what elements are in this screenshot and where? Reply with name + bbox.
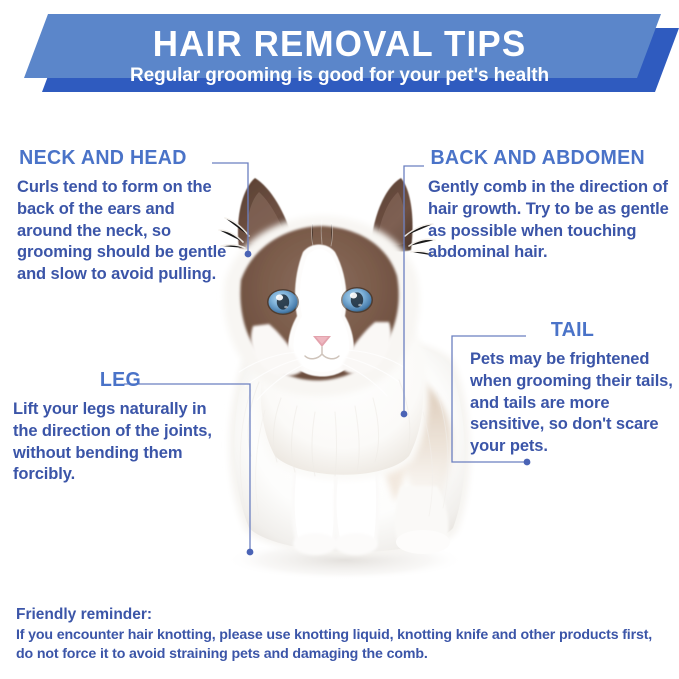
callout-body-tail: Pets may be frightened when grooming the… [470, 349, 675, 458]
callout-title-back: BACK AND ABDOMEN [430, 148, 673, 168]
banner-light-layer [0, 0, 679, 110]
cat-head [224, 216, 420, 400]
header-banner: HAIR REMOVAL TIPS Regular grooming is go… [0, 0, 679, 110]
footer-body: If you encounter hair knotting, please u… [16, 626, 666, 662]
cat-back-paw [395, 486, 450, 554]
callout-leg: LEG Lift your legs naturally in the dire… [13, 370, 228, 486]
callout-back-and-abdomen: BACK AND ABDOMEN Gently comb in the dire… [428, 148, 676, 264]
footer-note: Friendly reminder: If you encounter hair… [16, 605, 666, 663]
callout-body-back: Gently comb in the direction of hair gro… [428, 177, 676, 264]
callout-title-neck: NECK AND HEAD [19, 148, 230, 168]
infographic-poster: HAIR REMOVAL TIPS Regular grooming is go… [0, 0, 679, 679]
callout-tail: TAIL Pets may be frightened when groomin… [470, 320, 675, 458]
callout-title-tail: TAIL [472, 320, 673, 340]
callout-neck-and-head: NECK AND HEAD Curls tend to form on the … [17, 148, 232, 286]
leader-dot-tail [524, 459, 531, 466]
callout-title-leg: LEG [15, 370, 226, 390]
footer-title: Friendly reminder: [16, 605, 666, 624]
callout-body-neck: Curls tend to form on the back of the ea… [17, 177, 232, 286]
callout-body-leg: Lift your legs naturally in the directio… [13, 399, 228, 486]
